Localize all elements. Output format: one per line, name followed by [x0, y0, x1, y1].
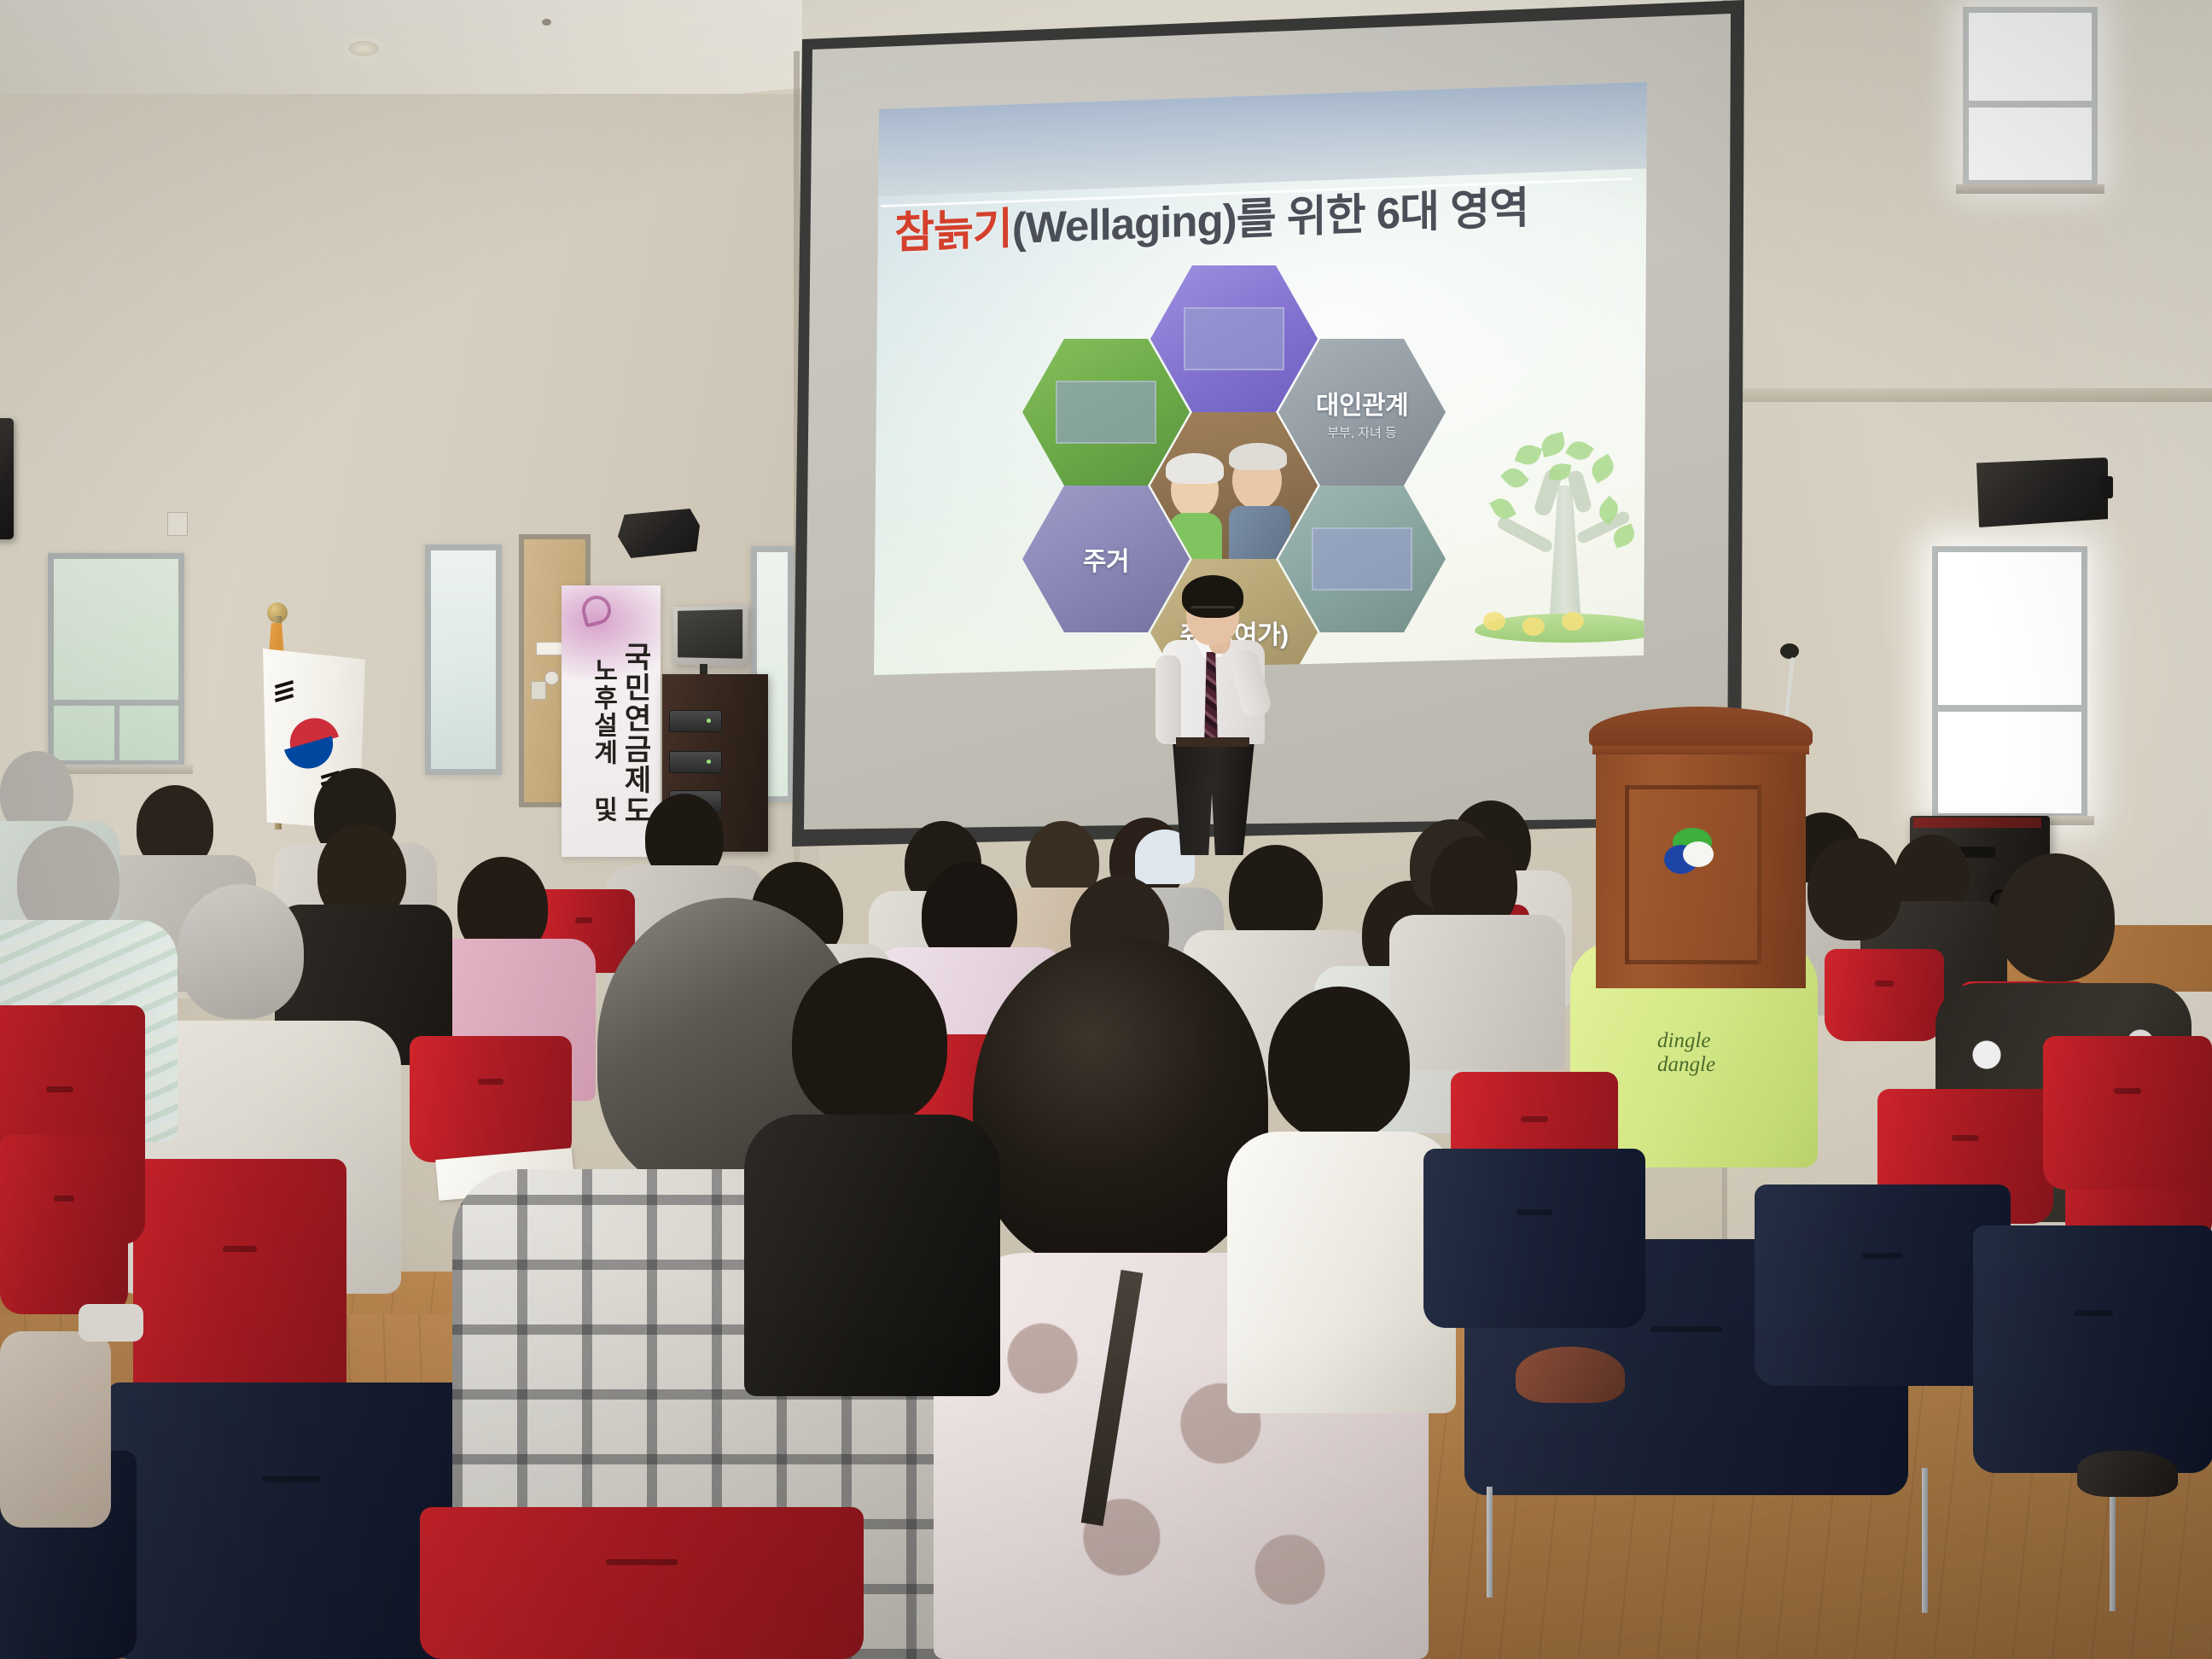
interior-window — [425, 544, 502, 775]
shoe — [79, 1304, 143, 1342]
wall-outlet-plate — [167, 512, 188, 536]
hexagon-inner-panel — [1312, 527, 1412, 591]
chair-leg — [1922, 1468, 1928, 1613]
photo-scene: 국민연금제도 노후설계 및 참늙기(Wellaging)를 위한 6대 영역 — [0, 0, 2212, 1659]
shoe — [2077, 1451, 2178, 1497]
case-top-strip — [1913, 818, 2041, 828]
hexagon-label: 대인관계 — [1316, 384, 1408, 422]
chair[interactable] — [420, 1507, 864, 1659]
podium — [1589, 707, 1813, 988]
right-soffit — [1732, 388, 2212, 402]
slide-title-rest: (Wellaging)를 위한 6대 영역 — [1012, 183, 1528, 253]
chair[interactable] — [1423, 1149, 1645, 1328]
hexagon-sublabel: 부부, 자녀 등 — [1327, 423, 1397, 441]
av-monitor — [673, 605, 748, 667]
tree-branch — [1496, 515, 1555, 554]
banner-text-secondary: 노후설계 및 — [584, 657, 621, 824]
institution-logo-icon — [1664, 828, 1717, 876]
logo-white-circle — [1683, 841, 1714, 867]
chair[interactable] — [1755, 1185, 2011, 1386]
flower-icon — [1483, 612, 1505, 631]
tree-leaf — [1489, 494, 1516, 522]
standing-banner: 국민연금제도 노후설계 및 — [562, 585, 661, 857]
ceiling-fixture-dot — [542, 19, 551, 26]
chair[interactable] — [1825, 949, 1944, 1041]
tree-leaf — [1565, 437, 1594, 464]
chair-leg — [1487, 1487, 1493, 1598]
presenter-belt — [1176, 737, 1249, 747]
shirt-embroidery-text: dingle dangle — [1657, 1029, 1715, 1077]
tree-illustration — [1468, 419, 1647, 649]
wall-switch-plate[interactable] — [531, 681, 546, 700]
flower-icon — [1562, 612, 1584, 631]
rack-led-icon — [707, 719, 711, 723]
ceiling-speaker — [618, 509, 700, 558]
tree-leaf — [1515, 441, 1543, 468]
window-right-mullion — [1932, 705, 2087, 712]
chair[interactable] — [410, 1036, 572, 1162]
handbag — [1516, 1347, 1625, 1403]
window-left-vertical-mullion — [114, 700, 119, 766]
ceiling-downlight — [348, 41, 379, 56]
chair[interactable] — [0, 1135, 128, 1314]
tree-leaf — [1587, 454, 1618, 484]
window-upper-right — [1963, 7, 2098, 186]
hexagon-inner-panel — [1056, 381, 1156, 444]
wall-speaker-right — [1976, 457, 2108, 527]
hexagon-label: 주거 — [1083, 540, 1129, 578]
tree-leaf — [1500, 463, 1529, 492]
presenter-left-arm — [1155, 655, 1181, 744]
hexagon-inner-panel — [1184, 307, 1284, 370]
window-upper-right-mullion — [1963, 101, 2098, 108]
monitor-screen — [678, 609, 742, 659]
rack-unit — [669, 751, 722, 773]
podium-top — [1589, 707, 1813, 746]
attendee-leg — [0, 1331, 111, 1528]
window-upper-right-sill — [1956, 184, 2104, 194]
eyeglasses-icon — [1190, 606, 1235, 616]
chair[interactable] — [2043, 1036, 2212, 1190]
podium-microphone-icon — [1780, 643, 1799, 659]
window-right — [1932, 546, 2087, 819]
rack-led-icon — [707, 760, 711, 764]
presenter-trousers — [1173, 741, 1254, 855]
wall-speaker-left — [0, 418, 14, 539]
chair[interactable] — [133, 1159, 346, 1415]
presenter — [1154, 573, 1273, 855]
slide-title-highlight: 참늙기 — [894, 204, 1012, 258]
chair[interactable] — [1973, 1225, 2212, 1473]
rack-unit — [669, 710, 722, 732]
flower-icon — [1522, 617, 1545, 636]
speaker-bracket-icon — [2099, 476, 2113, 498]
door-knob-icon[interactable] — [544, 671, 559, 685]
tree-leaf — [1540, 432, 1568, 457]
